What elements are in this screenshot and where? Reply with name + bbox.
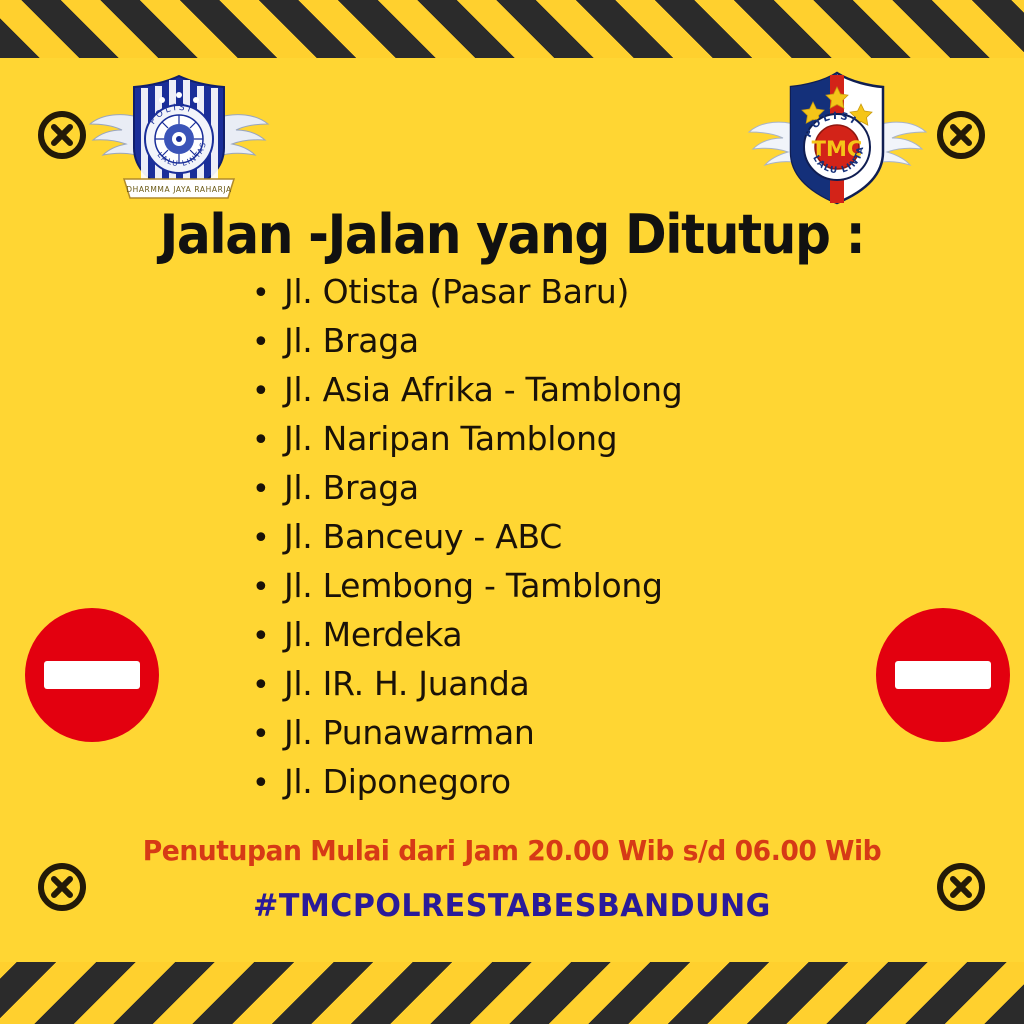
- list-item: • Jl. IR. H. Juanda: [252, 664, 772, 713]
- road-name: Jl. Braga: [284, 468, 419, 507]
- road-name: Jl. Banceuy - ABC: [284, 517, 562, 556]
- list-item: • Jl. Punawarman: [252, 713, 772, 762]
- road-name: Jl. Braga: [284, 321, 419, 360]
- hashtag-text: #TMCPOLRESTABESBANDUNG: [15, 888, 1008, 924]
- bullet-icon: •: [252, 279, 284, 309]
- road-name: Jl. Merdeka: [284, 615, 462, 654]
- list-item: • Jl. Merdeka: [252, 615, 772, 664]
- hazard-stripe-top: [0, 0, 1024, 58]
- circle-x-icon: [36, 109, 88, 161]
- road-name: Jl. Lembong - Tamblong: [284, 566, 663, 605]
- bullet-icon: •: [252, 524, 284, 554]
- bullet-icon: •: [252, 573, 284, 603]
- bullet-icon: •: [252, 328, 284, 358]
- list-item: • Jl. Naripan Tamblong: [252, 419, 772, 468]
- bullet-icon: •: [252, 426, 284, 456]
- road-name: Jl. Punawarman: [284, 713, 535, 752]
- list-item: • Jl. Otista (Pasar Baru): [252, 272, 772, 321]
- closing-time-text: Penutupan Mulai dari Jam 20.00 Wib s/d 0…: [26, 834, 999, 867]
- road-name: Jl. Naripan Tamblong: [284, 419, 617, 458]
- list-item: • Jl. Diponegoro: [252, 762, 772, 811]
- road-name: Jl. Diponegoro: [284, 762, 511, 801]
- list-item: • Jl. Lembong - Tamblong: [252, 566, 772, 615]
- bullet-icon: •: [252, 622, 284, 652]
- hazard-stripe-bottom: [0, 962, 1024, 1024]
- list-item: • Jl. Banceuy - ABC: [252, 517, 772, 566]
- list-item: • Jl. Braga: [252, 468, 772, 517]
- bullet-icon: •: [252, 377, 284, 407]
- closed-roads-list: • Jl. Otista (Pasar Baru) • Jl. Braga • …: [0, 272, 1024, 811]
- tmc-lalu-lintas-logo: TMC POLISI LALU LINTAS: [745, 55, 930, 215]
- bullet-icon: •: [252, 671, 284, 701]
- road-name: Jl. Otista (Pasar Baru): [284, 272, 629, 311]
- road-name: Jl. Asia Afrika - Tamblong: [284, 370, 682, 409]
- page-title: Jalan -Jalan yang Ditutup :: [36, 207, 988, 264]
- bullet-icon: •: [252, 475, 284, 505]
- circle-x-icon: [935, 109, 987, 161]
- road-name: Jl. IR. H. Juanda: [284, 664, 529, 703]
- bullet-icon: •: [252, 720, 284, 750]
- bullet-icon: •: [252, 769, 284, 799]
- list-item: • Jl. Braga: [252, 321, 772, 370]
- road-closure-poster: POLISI LALU LINTAS DHARMMA JAYA RAHARJA: [0, 0, 1024, 1024]
- list-item: • Jl. Asia Afrika - Tamblong: [252, 370, 772, 419]
- svg-text:DHARMMA JAYA RAHARJA: DHARMMA JAYA RAHARJA: [126, 185, 232, 194]
- polrestabes-bandung-logo: POLISI LALU LINTAS DHARMMA JAYA RAHARJA: [84, 52, 274, 212]
